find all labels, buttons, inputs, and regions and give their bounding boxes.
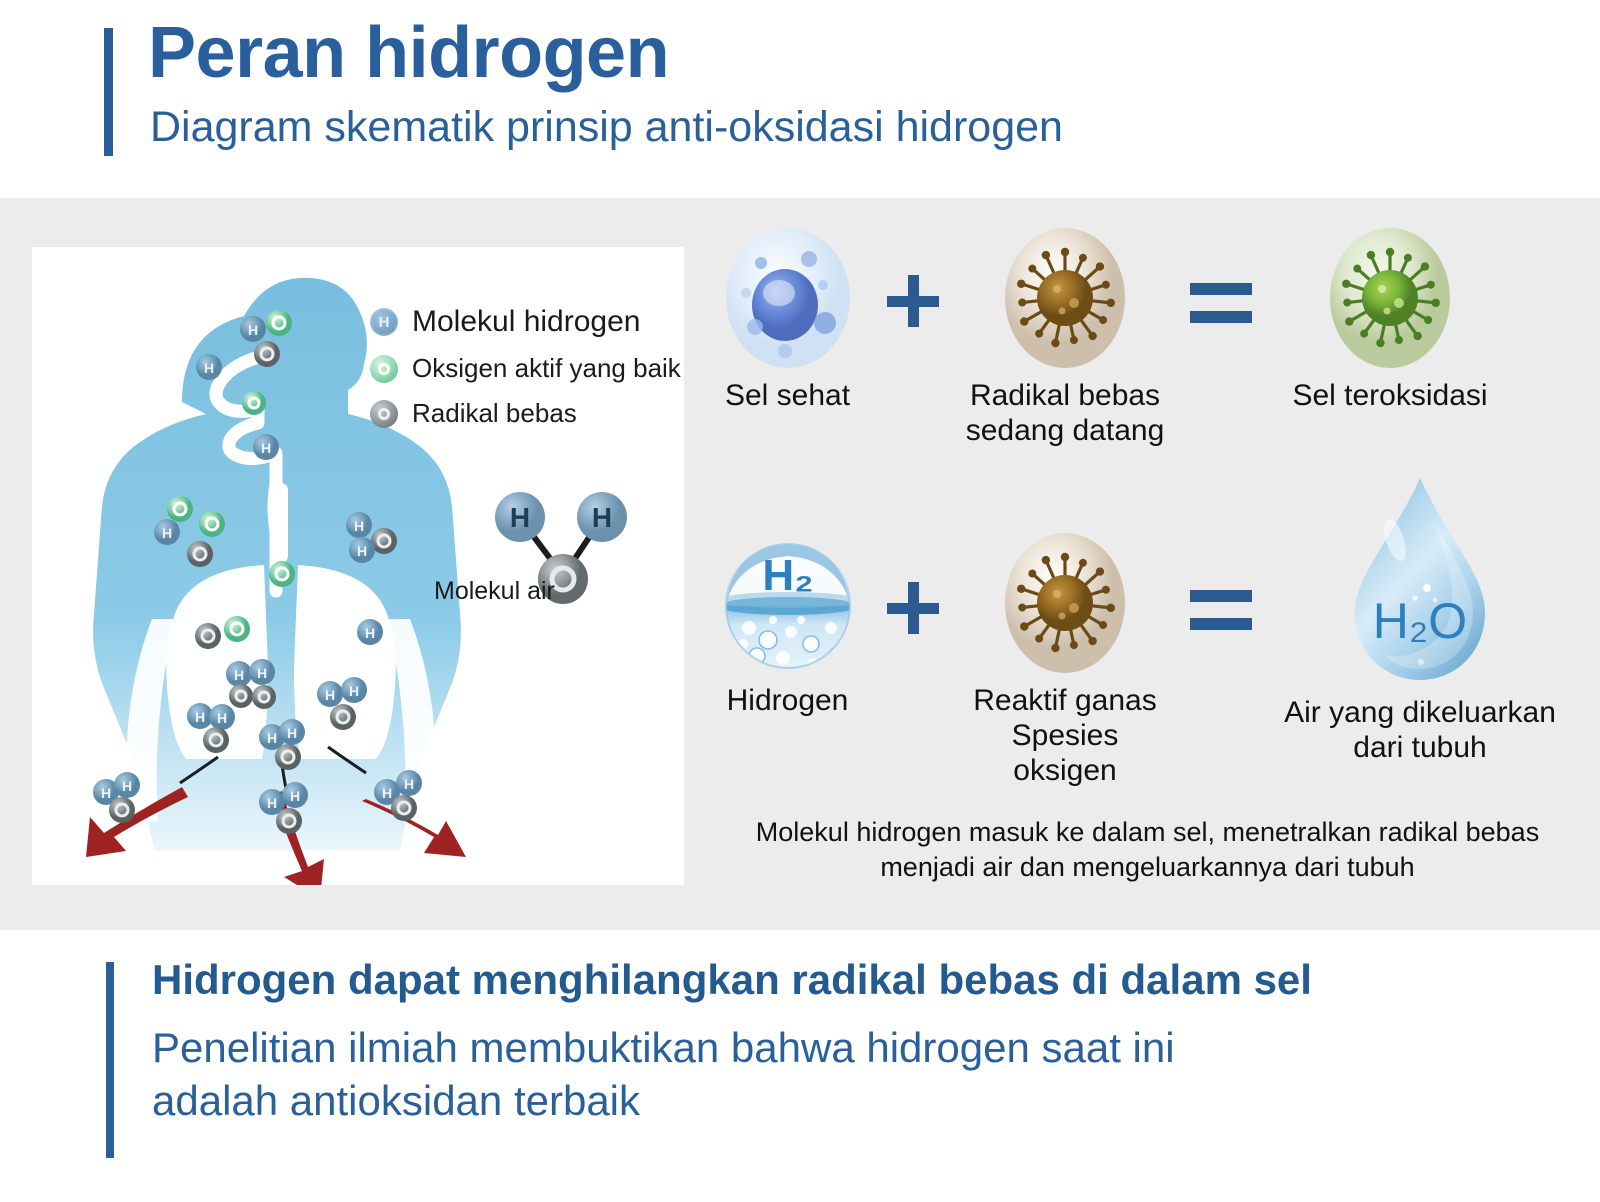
page-title: Peran hidrogen [148, 16, 669, 92]
svg-text:H: H [592, 502, 612, 533]
footer-body-line-2: adalah antioksidan terbaik [152, 1077, 640, 1124]
svg-text:H: H [290, 788, 300, 804]
svg-text:H: H [248, 322, 258, 338]
expelled-water-label: Air yang dikeluarkan dari tubuh [1270, 696, 1570, 766]
svg-text:H: H [357, 543, 367, 559]
legend-label-free-radical: Radikal bebas [412, 398, 577, 429]
reactive-oxygen-species-label: Reaktif ganas Spesies oksigen [960, 684, 1170, 788]
footer-body-line-1: Penelitian ilmiah membuktikan bahwa hidr… [152, 1024, 1175, 1071]
svg-text:H: H [287, 725, 297, 741]
green-oxidized-orb [1315, 223, 1465, 373]
footer: Hidrogen dapat menghilangkan radikal beb… [0, 930, 1600, 1202]
page-subtitle: Diagram skematik prinsip anti-oksidasi h… [150, 104, 1063, 151]
water-droplet: H₂O [1335, 470, 1505, 690]
footer-body: Penelitian ilmiah membuktikan bahwa hidr… [152, 1022, 1452, 1127]
plus-operator-row1 [885, 273, 941, 329]
svg-text:H: H [162, 525, 172, 541]
legend-item-good-oxygen: Oksigen aktif yang baik [370, 353, 670, 384]
oxidation-row: Sel sehat [695, 215, 1580, 475]
free-radical-incoming-label: Radikal bebas sedang datang [960, 379, 1170, 449]
reaction-caption: Molekul hidrogen masuk ke dalam sel, men… [705, 815, 1590, 884]
free-radical-icon [370, 400, 398, 428]
footer-accent-bar [106, 962, 114, 1158]
header: Peran hidrogen Diagram skematik prinsip … [0, 0, 1600, 198]
svg-text:H: H [234, 667, 244, 683]
healthy-cell-item: Sel sehat [695, 223, 880, 414]
svg-text:H: H [325, 687, 335, 703]
legend: Molekul hidrogen Oksigen aktif yang baik… [370, 305, 670, 443]
legend-item-hydrogen: Molekul hidrogen [370, 305, 670, 339]
brown-radical-orb-1 [990, 223, 1140, 373]
reactive-oxygen-species-item: Reaktif ganas Spesies oksigen [960, 528, 1170, 788]
h2-formula-text: H₂ [762, 551, 813, 600]
healthy-cell-label: Sel sehat [695, 379, 880, 414]
healthy-cell-orb [713, 223, 863, 373]
legend-label-good-oxygen: Oksigen aktif yang baik [412, 353, 681, 384]
h2o-formula-text: H₂O [1373, 593, 1467, 649]
neutralization-row: H₂ Hidrogen [695, 470, 1580, 770]
plus-operator-row2 [885, 580, 941, 636]
svg-text:H: H [354, 518, 364, 534]
h2-water-orb: H₂ [713, 528, 863, 678]
svg-text:H: H [267, 730, 277, 746]
header-accent-bar [104, 28, 113, 156]
svg-text:H: H [122, 778, 132, 794]
svg-text:H: H [204, 360, 214, 376]
hydrogen-label: Hidrogen [695, 684, 880, 719]
hydrogen-molecule-icon [370, 308, 398, 336]
svg-text:H: H [261, 440, 271, 456]
svg-text:H: H [195, 709, 205, 725]
svg-text:H: H [267, 795, 277, 811]
svg-text:H: H [510, 502, 530, 533]
equals-operator-row1 [1190, 281, 1252, 327]
brown-radical-orb-2 [990, 528, 1140, 678]
water-molecule-caption: Molekul air [434, 577, 684, 606]
oxidized-cell-label: Sel teroksidasi [1275, 379, 1505, 414]
svg-text:H: H [382, 785, 392, 801]
reaction-diagram: Sel sehat [695, 215, 1580, 930]
human-body-illustration-card: H H H H H H H [32, 247, 684, 885]
footer-headline: Hidrogen dapat menghilangkan radikal beb… [152, 956, 1312, 1004]
svg-text:H: H [404, 776, 414, 792]
infographic-page: Peran hidrogen Diagram skematik prinsip … [0, 0, 1600, 1202]
svg-text:H: H [349, 683, 359, 699]
hydrogen-item: H₂ Hidrogen [695, 528, 880, 719]
good-active-oxygen-icon [370, 355, 398, 383]
svg-text:H: H [257, 665, 267, 681]
svg-text:H: H [365, 625, 375, 641]
legend-label-hydrogen: Molekul hidrogen [412, 305, 640, 339]
expelled-water-item: H₂O Air yang dikeluarkan dari tubuh [1270, 470, 1570, 766]
free-radical-incoming-item: Radikal bebas sedang datang [960, 223, 1170, 449]
svg-text:H: H [217, 710, 227, 726]
oxidized-cell-item: Sel teroksidasi [1275, 223, 1505, 414]
equals-operator-row2 [1190, 588, 1252, 634]
legend-item-free-radical: Radikal bebas [370, 398, 670, 429]
svg-text:H: H [101, 785, 111, 801]
